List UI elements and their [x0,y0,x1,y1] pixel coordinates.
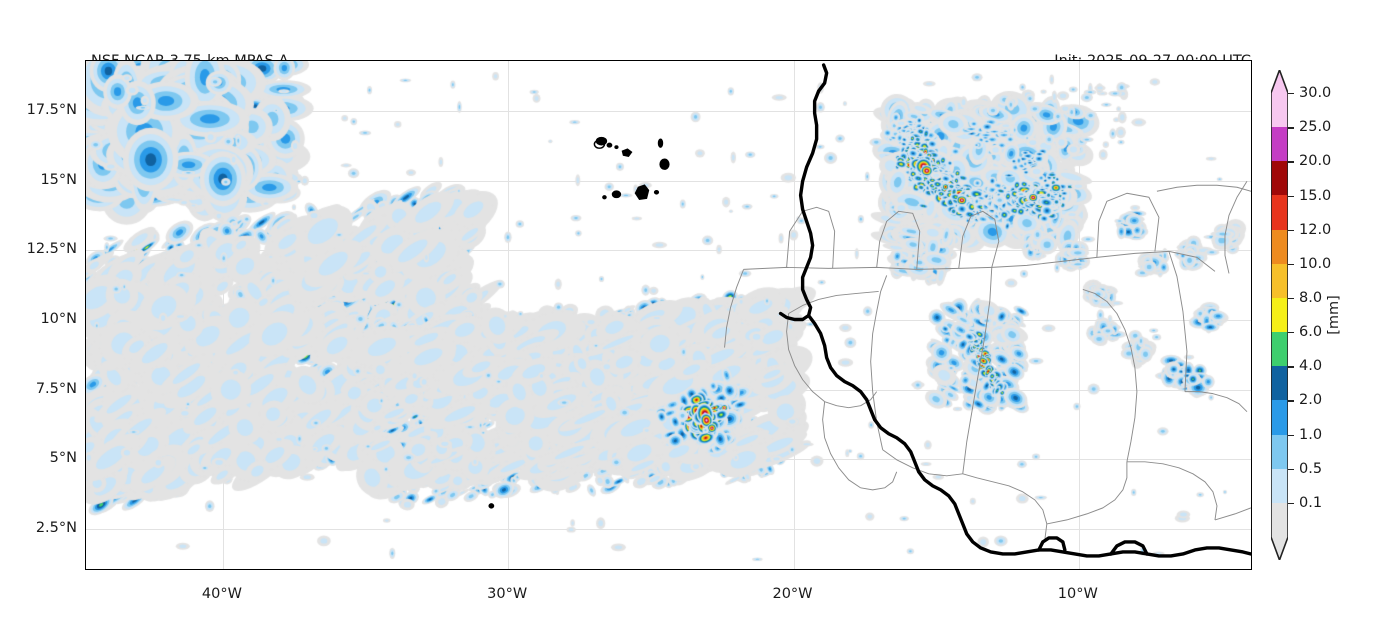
colorbar-band [1271,332,1288,367]
colorbar-tick-label: 20.0 [1299,153,1331,169]
colorbar-tick [1288,332,1294,333]
colorbar-tick [1288,366,1294,367]
colorbar-tick-label: 12.0 [1299,222,1331,238]
colorbar-bands [1271,93,1288,537]
colorbar-under-arrow [1271,537,1287,560]
colorbar-tick [1288,161,1294,162]
colorbar-band [1271,434,1288,469]
colorbar-over-arrow [1271,70,1287,93]
colorbar-band [1271,366,1288,401]
colorbar-tick [1288,400,1294,401]
y-axis-tick-label: 12.5°N [27,241,77,257]
colorbar-tick-label: 0.5 [1299,461,1322,477]
colorbar-band [1271,229,1288,264]
colorbar-tick [1288,503,1294,504]
colorbar-band [1271,93,1288,128]
colorbar-tick-label: 15.0 [1299,188,1331,204]
coastlines [781,65,1251,556]
y-axis-tick-label: 5°N [50,450,77,466]
colorbar-tick-label: 30.0 [1299,85,1331,101]
colorbar-tick-label: 6.0 [1299,324,1322,340]
colorbar-tick-label: 4.0 [1299,358,1322,374]
colorbar-tick-label: 1.0 [1299,427,1322,443]
colorbar-tick [1288,230,1294,231]
colorbar-band [1271,127,1288,162]
colorbar-tick-label: 25.0 [1299,119,1331,135]
colorbar-tick [1288,127,1294,128]
colorbar-tick [1288,264,1294,265]
colorbar-tick [1288,469,1294,470]
x-axis-tick-label: 40°W [202,586,242,602]
colorbar-band [1271,502,1288,537]
colorbar: 0.10.51.02.04.06.08.010.012.015.020.025.… [1271,60,1331,570]
colorbar-band [1271,161,1288,196]
x-axis-tick-label: 10°W [1058,586,1098,602]
colorbar-tick-label: 10.0 [1299,256,1331,272]
colorbar-band [1271,297,1288,332]
colorbar-tick-label: 8.0 [1299,290,1322,306]
y-axis-tick-label: 15°N [40,172,77,188]
colorbar-band [1271,263,1288,298]
colorbar-tick [1288,93,1294,94]
country-borders [725,181,1251,540]
island-outlines [489,138,669,508]
x-axis-tick-label: 20°W [772,586,812,602]
colorbar-tick-label: 2.0 [1299,392,1322,408]
colorbar-unit-label: [mm] [1326,295,1342,335]
colorbar-tick [1288,298,1294,299]
colorbar-tick-label: 0.1 [1299,495,1322,511]
map-canvas [86,61,1251,569]
y-axis-tick-label: 17.5°N [27,102,77,118]
colorbar-band [1271,468,1288,503]
colorbar-band [1271,400,1288,435]
map-overlay [86,61,1251,569]
y-axis-tick-label: 2.5°N [36,520,77,536]
map-plot-area [85,60,1252,570]
y-axis-tick-label: 7.5°N [36,381,77,397]
colorbar-tick [1288,435,1294,436]
y-axis-tick-label: 10°N [40,311,77,327]
x-axis-tick-label: 30°W [487,586,527,602]
colorbar-band [1271,195,1288,230]
colorbar-tick [1288,196,1294,197]
